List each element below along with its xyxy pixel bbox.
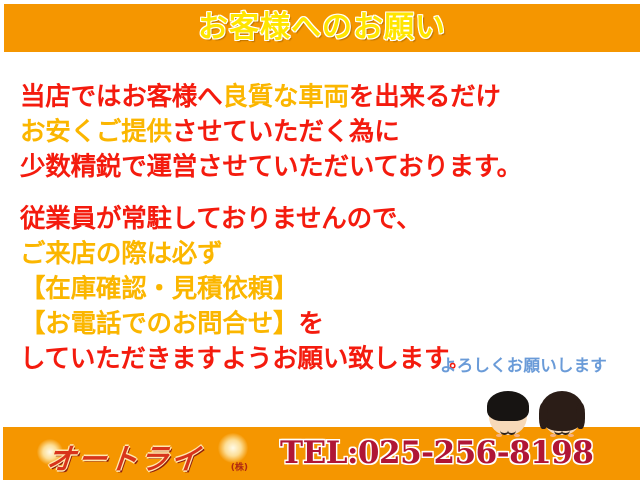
man-cheek-right (514, 434, 520, 437)
message-line: 【在庫確認・見積依頼】 (20, 272, 620, 307)
message-line: 当店ではお客様へ良質な車両を出来るだけ (20, 80, 620, 115)
footer-bar: オートライ (株) TEL:025-256-8198 (3, 427, 640, 480)
telephone-number: TEL:025-256-8198 (280, 435, 593, 471)
message-segment: していただきますようお願い致します (20, 344, 449, 374)
message-segment: させていただく為に (172, 117, 400, 147)
woman-cheek-left (550, 434, 556, 437)
promo-banner-image: お客様へのお願い 当店ではお客様へ良質な車両を出来るだけお安くご提供させていただ… (0, 0, 640, 480)
message-line-spacer (20, 185, 620, 202)
message-segment: を (298, 309, 323, 339)
page-title: お客様へのお願い (198, 13, 446, 43)
sparkle-icon-right (218, 433, 248, 463)
message-segment: 良質な車両 (222, 82, 349, 112)
message-line: 少数精鋭で運営させていただいております。 (20, 150, 620, 185)
message-segment: 【在庫確認・見積依頼】 (20, 274, 298, 304)
message-line: 【お電話でのお問合せ】を (20, 307, 620, 342)
body-area: 当店ではお客様へ良質な車両を出来るだけお安くご提供させていただく為に少数精鋭で運… (0, 52, 640, 427)
message-segment: 従業員が常駐しておりませんので、 (20, 204, 422, 234)
message-text-block: 当店ではお客様へ良質な車両を出来るだけお安くご提供させていただく為に少数精鋭で運… (20, 80, 620, 380)
message-segment: 少数精鋭で運営させていただいております。 (20, 152, 522, 182)
logo-wordmark: オートライ (45, 436, 204, 478)
message-segment: を出来るだけ (349, 82, 501, 112)
man-hair (487, 391, 529, 421)
greeting-text: よろしくお願いします (440, 352, 607, 376)
man-cheek-left (496, 434, 502, 437)
message-segment: 当店ではお客様へ (20, 82, 222, 112)
company-logo: オートライ (株) (39, 435, 254, 475)
message-line: お安くご提供させていただく為に (20, 115, 620, 150)
header-banner: お客様へのお願い (4, 4, 640, 52)
message-line: 従業員が常駐しておりませんので、 (20, 202, 620, 237)
message-segment: ご来店の際は必ず (20, 239, 222, 269)
message-segment: お安くご提供 (20, 117, 172, 147)
woman-hair-side-left (539, 403, 548, 429)
message-segment: 【お電話でのお問合せ】 (20, 309, 298, 339)
woman-cheek-right (568, 434, 574, 437)
message-line: ご来店の際は必ず (20, 237, 620, 272)
logo-corporate-suffix: (株) (231, 460, 248, 473)
woman-hair-side-right (576, 403, 585, 429)
